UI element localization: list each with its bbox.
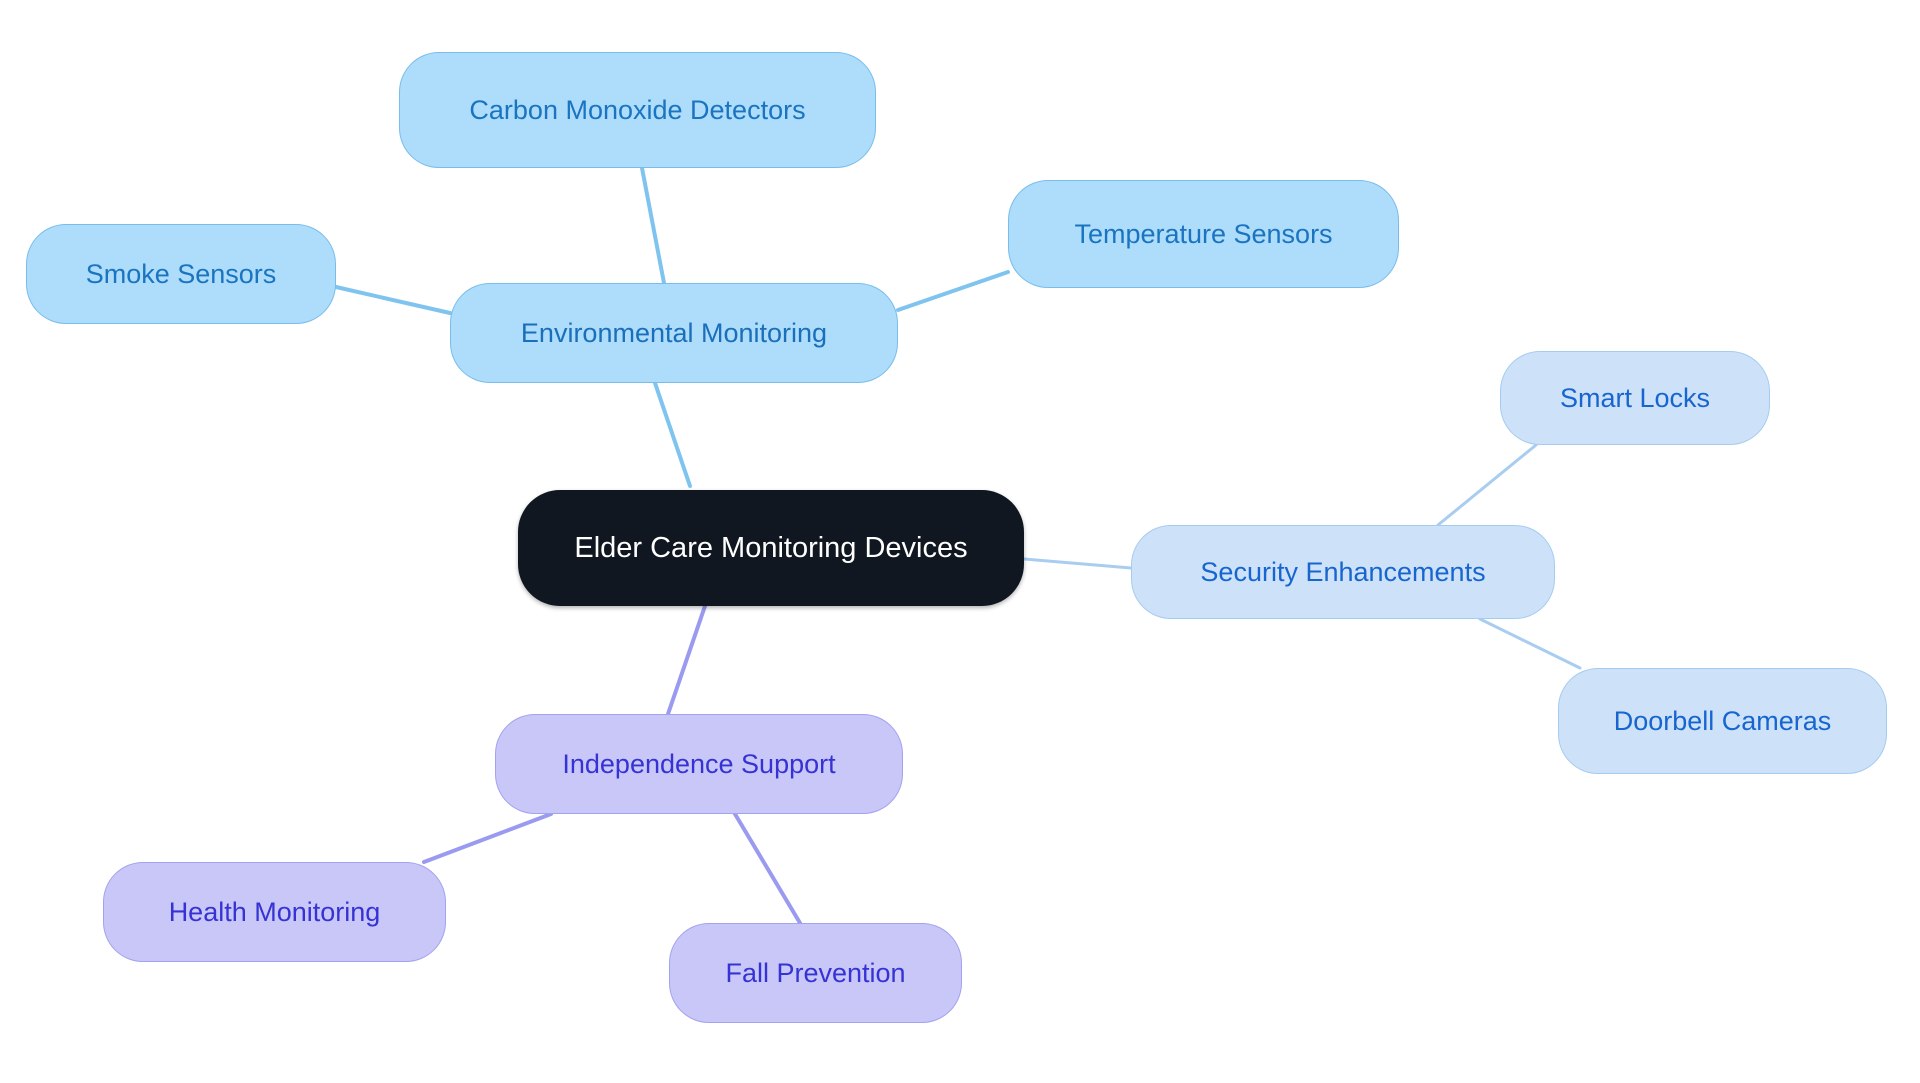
leaf-node-smoke-sensors-label: Smoke Sensors: [86, 261, 277, 288]
edge-root-security: [1024, 559, 1131, 568]
leaf-node-temperature-sensors-label: Temperature Sensors: [1074, 221, 1332, 248]
branch-node-independence-support-label: Independence Support: [562, 751, 835, 778]
edge-root-independence: [668, 606, 705, 714]
leaf-node-smoke-sensors[interactable]: Smoke Sensors: [26, 224, 336, 324]
leaf-node-carbon-monoxide-detectors-label: Carbon Monoxide Detectors: [469, 97, 805, 124]
leaf-node-carbon-monoxide-detectors[interactable]: Carbon Monoxide Detectors: [399, 52, 876, 168]
leaf-node-fall-prevention[interactable]: Fall Prevention: [669, 923, 962, 1023]
branch-node-independence-support[interactable]: Independence Support: [495, 714, 903, 814]
root-node[interactable]: Elder Care Monitoring Devices: [518, 490, 1024, 606]
edge-security-doorbell: [1480, 619, 1580, 668]
mindmap-canvas: Elder Care Monitoring DevicesEnvironment…: [0, 0, 1920, 1083]
edge-environmental-temperature: [898, 272, 1008, 310]
leaf-node-health-monitoring[interactable]: Health Monitoring: [103, 862, 446, 962]
edge-security-smartlocks: [1438, 445, 1536, 525]
root-node-label: Elder Care Monitoring Devices: [574, 534, 967, 563]
leaf-node-fall-prevention-label: Fall Prevention: [725, 960, 905, 987]
leaf-node-smart-locks-label: Smart Locks: [1560, 385, 1710, 412]
edge-root-environmental: [655, 383, 690, 486]
edge-independence-fall: [735, 814, 800, 923]
leaf-node-smart-locks[interactable]: Smart Locks: [1500, 351, 1770, 445]
edge-independence-health: [424, 814, 551, 862]
leaf-node-doorbell-cameras[interactable]: Doorbell Cameras: [1558, 668, 1887, 774]
edge-environmental-smoke: [336, 287, 450, 313]
edge-environmental-carbon: [642, 168, 664, 283]
leaf-node-doorbell-cameras-label: Doorbell Cameras: [1614, 708, 1832, 735]
branch-node-environmental-monitoring[interactable]: Environmental Monitoring: [450, 283, 898, 383]
branch-node-security-enhancements[interactable]: Security Enhancements: [1131, 525, 1555, 619]
branch-node-security-enhancements-label: Security Enhancements: [1200, 559, 1485, 586]
leaf-node-health-monitoring-label: Health Monitoring: [169, 899, 381, 926]
leaf-node-temperature-sensors[interactable]: Temperature Sensors: [1008, 180, 1399, 288]
branch-node-environmental-monitoring-label: Environmental Monitoring: [521, 320, 827, 347]
